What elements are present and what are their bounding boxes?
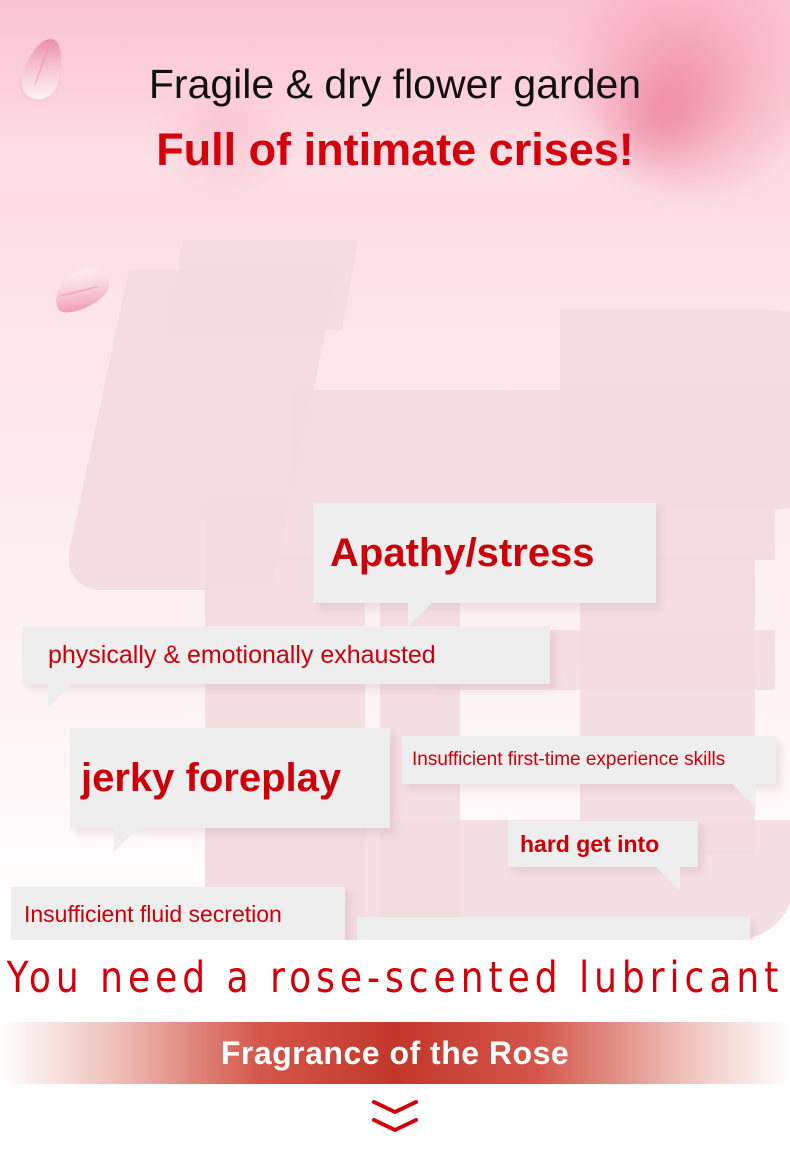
speech-bubble-apathy: Apathy/stress [313,503,656,603]
speech-bubble-hard-get-into: hard get into [508,821,698,867]
speech-bubble-label: Apathy/stress [330,531,595,576]
speech-bubble-tail-icon [654,865,680,891]
background-watermark-shape [560,310,790,510]
speech-bubble-exhausted: physically & emotionally exhausted [22,626,550,684]
headline-secondary: Full of intimate crises! [0,127,790,172]
speech-bubble-label: Insufficient first-time experience skill… [412,749,725,771]
background-watermark-shape [167,240,358,330]
promo-page: Fragile & dry flower garden Full of inti… [0,0,790,1164]
speech-bubble-give-up-halfway: give up halfway [357,917,750,940]
product-banner: Fragrance of the Rose [0,1022,790,1084]
speech-bubble-tail-icon [48,682,74,708]
speech-bubble-label: jerky foreplay [81,756,341,801]
speech-bubble-label: hard get into [520,831,659,858]
chevron-down-icon [372,1118,418,1132]
chevron-down-icon [372,1100,418,1114]
speech-bubble-tail-icon [114,826,140,852]
speech-bubble-tail-icon [730,782,756,808]
rose-petal-icon [47,260,115,319]
scroll-down-indicator[interactable] [0,1100,790,1132]
speech-bubble-tail-icon [408,601,434,627]
speech-bubble-first-time-skills: Insufficient first-time experience skill… [402,736,776,784]
speech-bubble-label: Insufficient fluid secretion [24,901,282,928]
pain-points-stage: Apathy/stress physically & emotionally e… [0,210,790,940]
speech-bubble-fluid-secretion: Insufficient fluid secretion [11,887,345,940]
bottom-section: You need a rose-scented lubricant Fragra… [0,940,790,1164]
product-banner-label: Fragrance of the Rose [221,1035,569,1072]
call-to-action-text: You need a rose-scented lubricant [0,953,790,1004]
header-banner: Fragile & dry flower garden Full of inti… [0,0,790,210]
headline-primary: Fragile & dry flower garden [0,64,790,105]
speech-bubble-label: physically & emotionally exhausted [48,641,436,670]
speech-bubble-jerky-foreplay: jerky foreplay [70,728,390,828]
